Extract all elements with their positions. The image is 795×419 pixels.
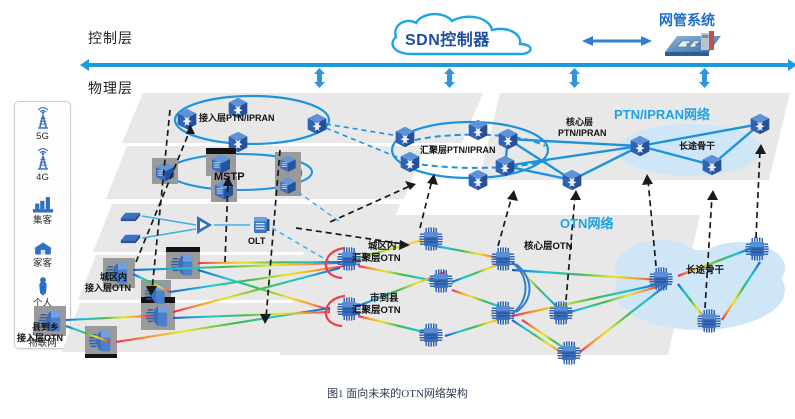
otn-agg-city-label-line1: 市到县 [370, 294, 399, 305]
diagram-canvas: 5G 4G 集客 家客 个人 物联网 控制层 物理层 SDN控制器 [0, 0, 795, 419]
otn-agg-city-label-line2: 汇聚层OTN [352, 306, 401, 317]
otn-agg-urban-label-line2: 汇聚层OTN [352, 254, 401, 265]
mstp-label: MSTP [214, 172, 245, 183]
ptn-core-label-line2: PTN/IPRAN [558, 128, 607, 139]
ptn-agg-ring-label: 汇聚层PTN/IPRAN [420, 145, 496, 156]
otn-access-urban-label-line1: 城区内 [100, 272, 127, 283]
otn-access-county-label-line1: 县到乡 [32, 322, 59, 333]
otn-access-urban-label-line2: 接入层OTN [85, 283, 131, 294]
ptn-access-ring-label: 接入层PTN/IPRAN [199, 113, 275, 124]
olt-node [254, 217, 270, 233]
figure-caption: 图1 面向未来的OTN网络架构 [0, 385, 795, 401]
olt-label: OLT [248, 236, 265, 247]
network-topology-svg [0, 0, 795, 385]
ptn-backbone-label: 长途骨干 [679, 141, 715, 152]
ptn-core-label-line1: 核心层 [566, 117, 593, 128]
otn-agg-urban-label-line1: 城区内 [368, 242, 397, 253]
otn-backbone-label: 长途骨干 [686, 266, 724, 277]
ptn-network-title: PTN/IPRAN网络 [614, 104, 710, 123]
otn-access-county-label-line2: 接入层OTN [17, 333, 63, 344]
otn-network-title: OTN网络 [560, 213, 613, 232]
otn-core-label: 核心层OTN [524, 242, 573, 253]
